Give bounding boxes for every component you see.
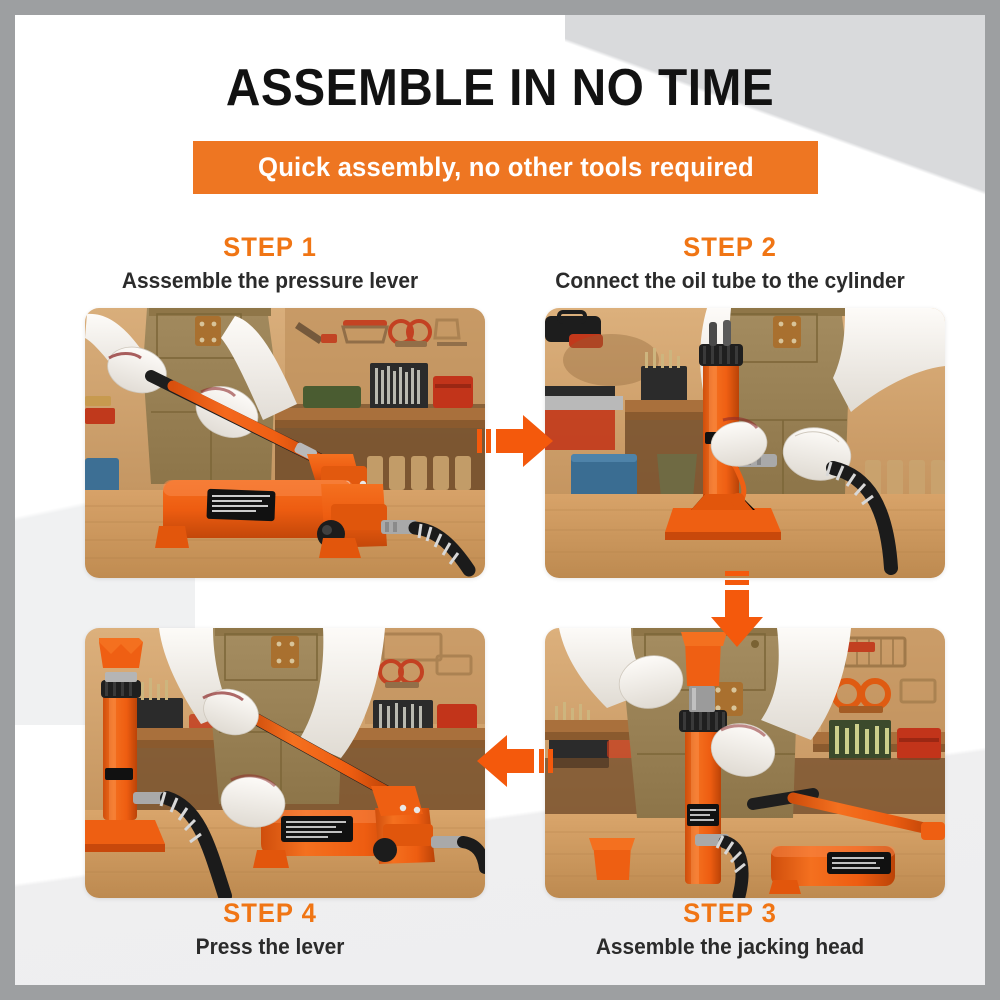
step-1-number: STEP 1 [80,231,460,263]
step-3-number: STEP 3 [540,897,920,929]
step-2-description: Connect the oil tube to the cylinder [540,266,920,296]
step-3-photo [545,628,945,898]
page-title: ASSEMBLE IN NO TIME [54,57,946,119]
step-4-description: Press the lever [80,932,460,962]
step-1-photo [85,308,485,578]
step-2-caption: STEP 2 Connect the oil tube to the cylin… [530,231,930,296]
step-3-caption: STEP 3 Assemble the jacking head [530,897,930,962]
step-3-photo-illustration [545,628,945,898]
subtitle-banner: Quick assembly, no other tools required [193,141,818,194]
step-1-description: Asssemble the pressure lever [80,266,460,296]
step-1-caption: STEP 1 Asssemble the pressure lever [70,231,470,296]
arrow-down-icon [709,571,765,647]
step-4-photo-illustration [85,628,485,898]
step-3-description: Assemble the jacking head [540,932,920,962]
infographic-frame: ASSEMBLE IN NO TIME Quick assembly, no o… [15,15,985,985]
step-2-photo-illustration [545,308,945,578]
subtitle-text: Quick assembly, no other tools required [258,152,754,183]
step-4-number: STEP 4 [80,897,460,929]
step-4-photo [85,628,485,898]
step-4-caption: STEP 4 Press the lever [70,897,470,962]
step-1-photo-illustration [85,308,485,578]
step-2-number: STEP 2 [540,231,920,263]
step-2-photo [545,308,945,578]
arrow-right-icon [477,413,553,469]
arrow-left-icon [477,733,553,789]
